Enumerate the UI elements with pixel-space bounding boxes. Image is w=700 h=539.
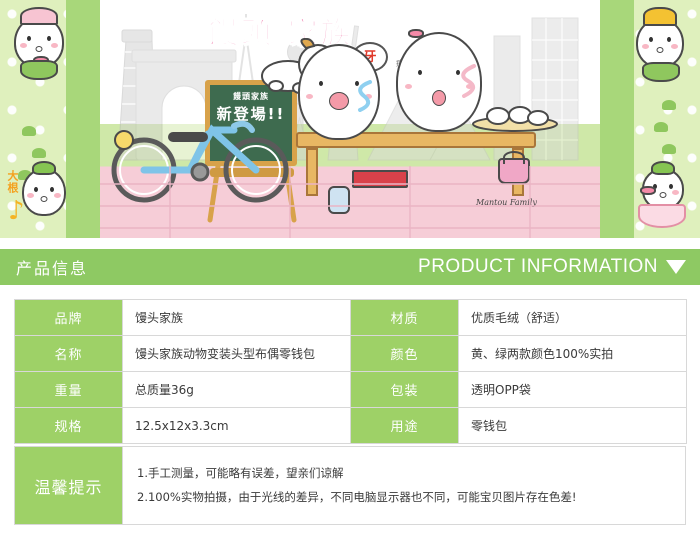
sprout-icon [32, 148, 46, 158]
sprout-icon [22, 126, 36, 136]
bow-icon [408, 29, 424, 38]
spec-value: 馒头家族 [123, 300, 351, 336]
spec-label: 用途 [351, 408, 459, 444]
caret-down-icon[interactable] [666, 260, 686, 274]
left-green-band [66, 0, 100, 238]
product-information-section-bar: 产品信息 PRODUCT INFORMATION [0, 249, 700, 285]
leaf-top-icon [651, 161, 675, 175]
pink-hat-character-body [20, 60, 58, 80]
notice-label: 温馨提示 [15, 447, 123, 525]
spec-value: 零钱包 [459, 408, 687, 444]
leaf-top-icon [32, 161, 56, 175]
banner-scene: 饅頭 家族 饅頭家族 新登場!! [100, 0, 600, 238]
radish-character-label: 大根 [4, 170, 20, 194]
section-title-cn: 产品信息 [16, 255, 88, 279]
product-hero-banner: 饅頭 家族 饅頭家族 新登場!! [0, 0, 700, 238]
music-note-icon: ♪ [8, 196, 25, 226]
tiled-floor-lines [100, 166, 600, 238]
spec-label: 重量 [15, 372, 123, 408]
bun-tray-illustration [472, 102, 558, 132]
notice-line-2: 2.100%实物拍摄，由于光线的差异，不同电脑显示器也不同，可能宝贝图片存在色差… [137, 489, 685, 506]
spec-label: 名称 [15, 336, 123, 372]
spec-label: 品牌 [15, 300, 123, 336]
yellow-hat-character-body [642, 62, 680, 82]
section-title-en: PRODUCT INFORMATION [418, 256, 658, 278]
notice-table: 温馨提示 1.手工测量，可能略有误差，望亲们谅解 2.100%实物拍摄，由于光线… [14, 446, 686, 525]
spec-value: 馒头家族动物变装头型布偶零钱包 [123, 336, 351, 372]
mantou-character-bow [396, 32, 482, 132]
pink-hat-icon [20, 7, 58, 25]
table-row: 品牌 馒头家族 材质 优质毛绒（舒适） [15, 300, 687, 336]
spec-table-wrap: 品牌 馒头家族 材质 优质毛绒（舒适） 名称 馒头家族动物变装头型布偶零钱包 颜… [0, 285, 700, 444]
spec-value: 黄、绿两款颜色100%实拍 [459, 336, 687, 372]
sprout-icon [654, 122, 668, 132]
mantou-character-blue [298, 44, 380, 140]
notice-wrap: 温馨提示 1.手工测量，可能略有误差，望亲们谅解 2.100%实物拍摄，由于光线… [0, 444, 700, 525]
spec-value: 透明OPP袋 [459, 372, 687, 408]
yellow-hat-icon [643, 7, 677, 26]
notice-row: 温馨提示 1.手工测量，可能略有误差，望亲们谅解 2.100%实物拍摄，由于光线… [15, 447, 686, 525]
right-decoration-panel [600, 0, 700, 238]
spec-label: 规格 [15, 408, 123, 444]
sprout-icon [662, 100, 676, 110]
left-decoration-panel: ♪ 大根 [0, 0, 100, 238]
bow-icon [640, 186, 656, 195]
radish-character [22, 168, 66, 216]
spec-label: 颜色 [351, 336, 459, 372]
teacup-illustration [638, 204, 686, 228]
table-row: 名称 馒头家族动物变装头型布偶零钱包 颜色 黄、绿两款颜色100%实拍 [15, 336, 687, 372]
spec-label: 材质 [351, 300, 459, 336]
table-row: 规格 12.5x12x3.3cm 用途 零钱包 [15, 408, 687, 444]
sprout-icon [662, 144, 676, 154]
section-title-en-group: PRODUCT INFORMATION [418, 256, 686, 278]
spec-table: 品牌 馒头家族 材质 优质毛绒（舒适） 名称 馒头家族动物变装头型布偶零钱包 颜… [14, 299, 687, 444]
notice-line-1: 1.手工测量，可能略有误差，望亲们谅解 [137, 465, 685, 482]
spec-value: 12.5x12x3.3cm [123, 408, 351, 444]
yellow-hat-character [636, 18, 684, 68]
notice-body: 1.手工测量，可能略有误差，望亲们谅解 2.100%实物拍摄，由于光线的差异，不… [123, 447, 686, 525]
spec-value: 优质毛绒（舒适） [459, 300, 687, 336]
spec-label: 包装 [351, 372, 459, 408]
right-green-band [600, 0, 634, 238]
spec-value: 总质量36g [123, 372, 351, 408]
table-row: 重量 总质量36g 包装 透明OPP袋 [15, 372, 687, 408]
